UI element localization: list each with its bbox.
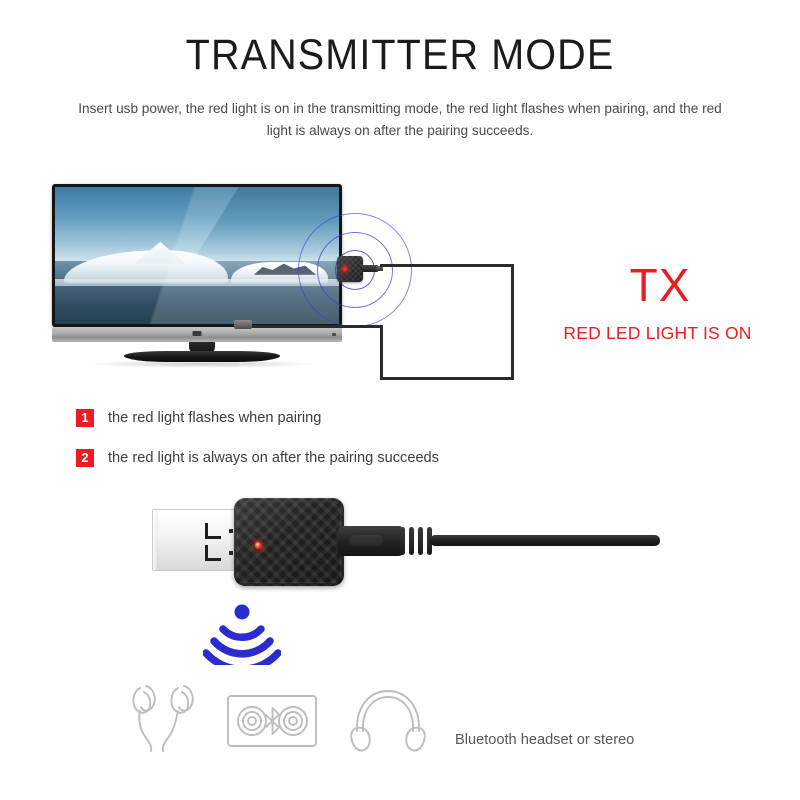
tv-logo <box>193 331 202 336</box>
adapter-red-led-icon <box>255 542 262 549</box>
note-text-2: the red light is always on after the pai… <box>108 450 439 466</box>
cable-strain-relief <box>400 527 434 555</box>
audio-plug-housing <box>338 526 404 556</box>
cable-segment-top <box>380 264 514 267</box>
bluetooth-speaker-icon <box>228 696 316 746</box>
tv-ir-sensor <box>332 333 336 336</box>
tx-dongle-led-icon <box>343 267 347 271</box>
usb-contact-dot-top <box>229 529 233 533</box>
earbuds-icon <box>133 686 192 751</box>
tv-bezel <box>52 327 342 342</box>
tv-shadow <box>87 360 317 368</box>
receiver-device-icons <box>126 672 456 759</box>
tx-dongle-plug-tip <box>376 266 383 271</box>
note-item-2: 2 the red light is always on after the p… <box>76 449 439 467</box>
note-badge-1: 1 <box>76 409 94 427</box>
transmitter-mode-infographic: TRANSMITTER MODE Insert usb power, the r… <box>0 0 800 800</box>
headphones-icon <box>351 691 425 751</box>
cable-segment-left <box>380 325 383 380</box>
tx-mode-label: TX <box>535 262 785 308</box>
adapter-cable <box>430 535 660 546</box>
cable-segment-right <box>511 264 514 380</box>
cable-connector-tip <box>234 320 252 329</box>
page-title: TRANSMITTER MODE <box>32 34 768 77</box>
usb-contact-cutout-bottom <box>205 545 221 561</box>
tv-screen <box>55 187 339 324</box>
adapter-body <box>234 498 344 586</box>
note-text-1: the red light flashes when pairing <box>108 410 321 426</box>
tx-status-label: RED LED LIGHT IS ON <box>520 323 795 344</box>
tv-frame <box>52 184 342 327</box>
usb-contact-dot-bottom <box>229 551 233 555</box>
tx-dongle-on-tv <box>337 256 363 282</box>
note-item-1: 1 the red light flashes when pairing <box>76 409 321 427</box>
television-illustration <box>52 184 352 384</box>
usb-a-connector <box>152 509 244 571</box>
devices-caption: Bluetooth headset or stereo <box>455 732 634 748</box>
note-badge-2: 2 <box>76 449 94 467</box>
usb-contact-cutout-top <box>205 523 221 539</box>
cable-segment-to-tv <box>250 325 383 328</box>
page-subtitle: Insert usb power, the red light is on in… <box>64 98 736 142</box>
cable-segment-bottom <box>380 377 514 380</box>
screen-ice-shelf <box>55 279 339 286</box>
bluetooth-waves-icon <box>203 603 281 670</box>
